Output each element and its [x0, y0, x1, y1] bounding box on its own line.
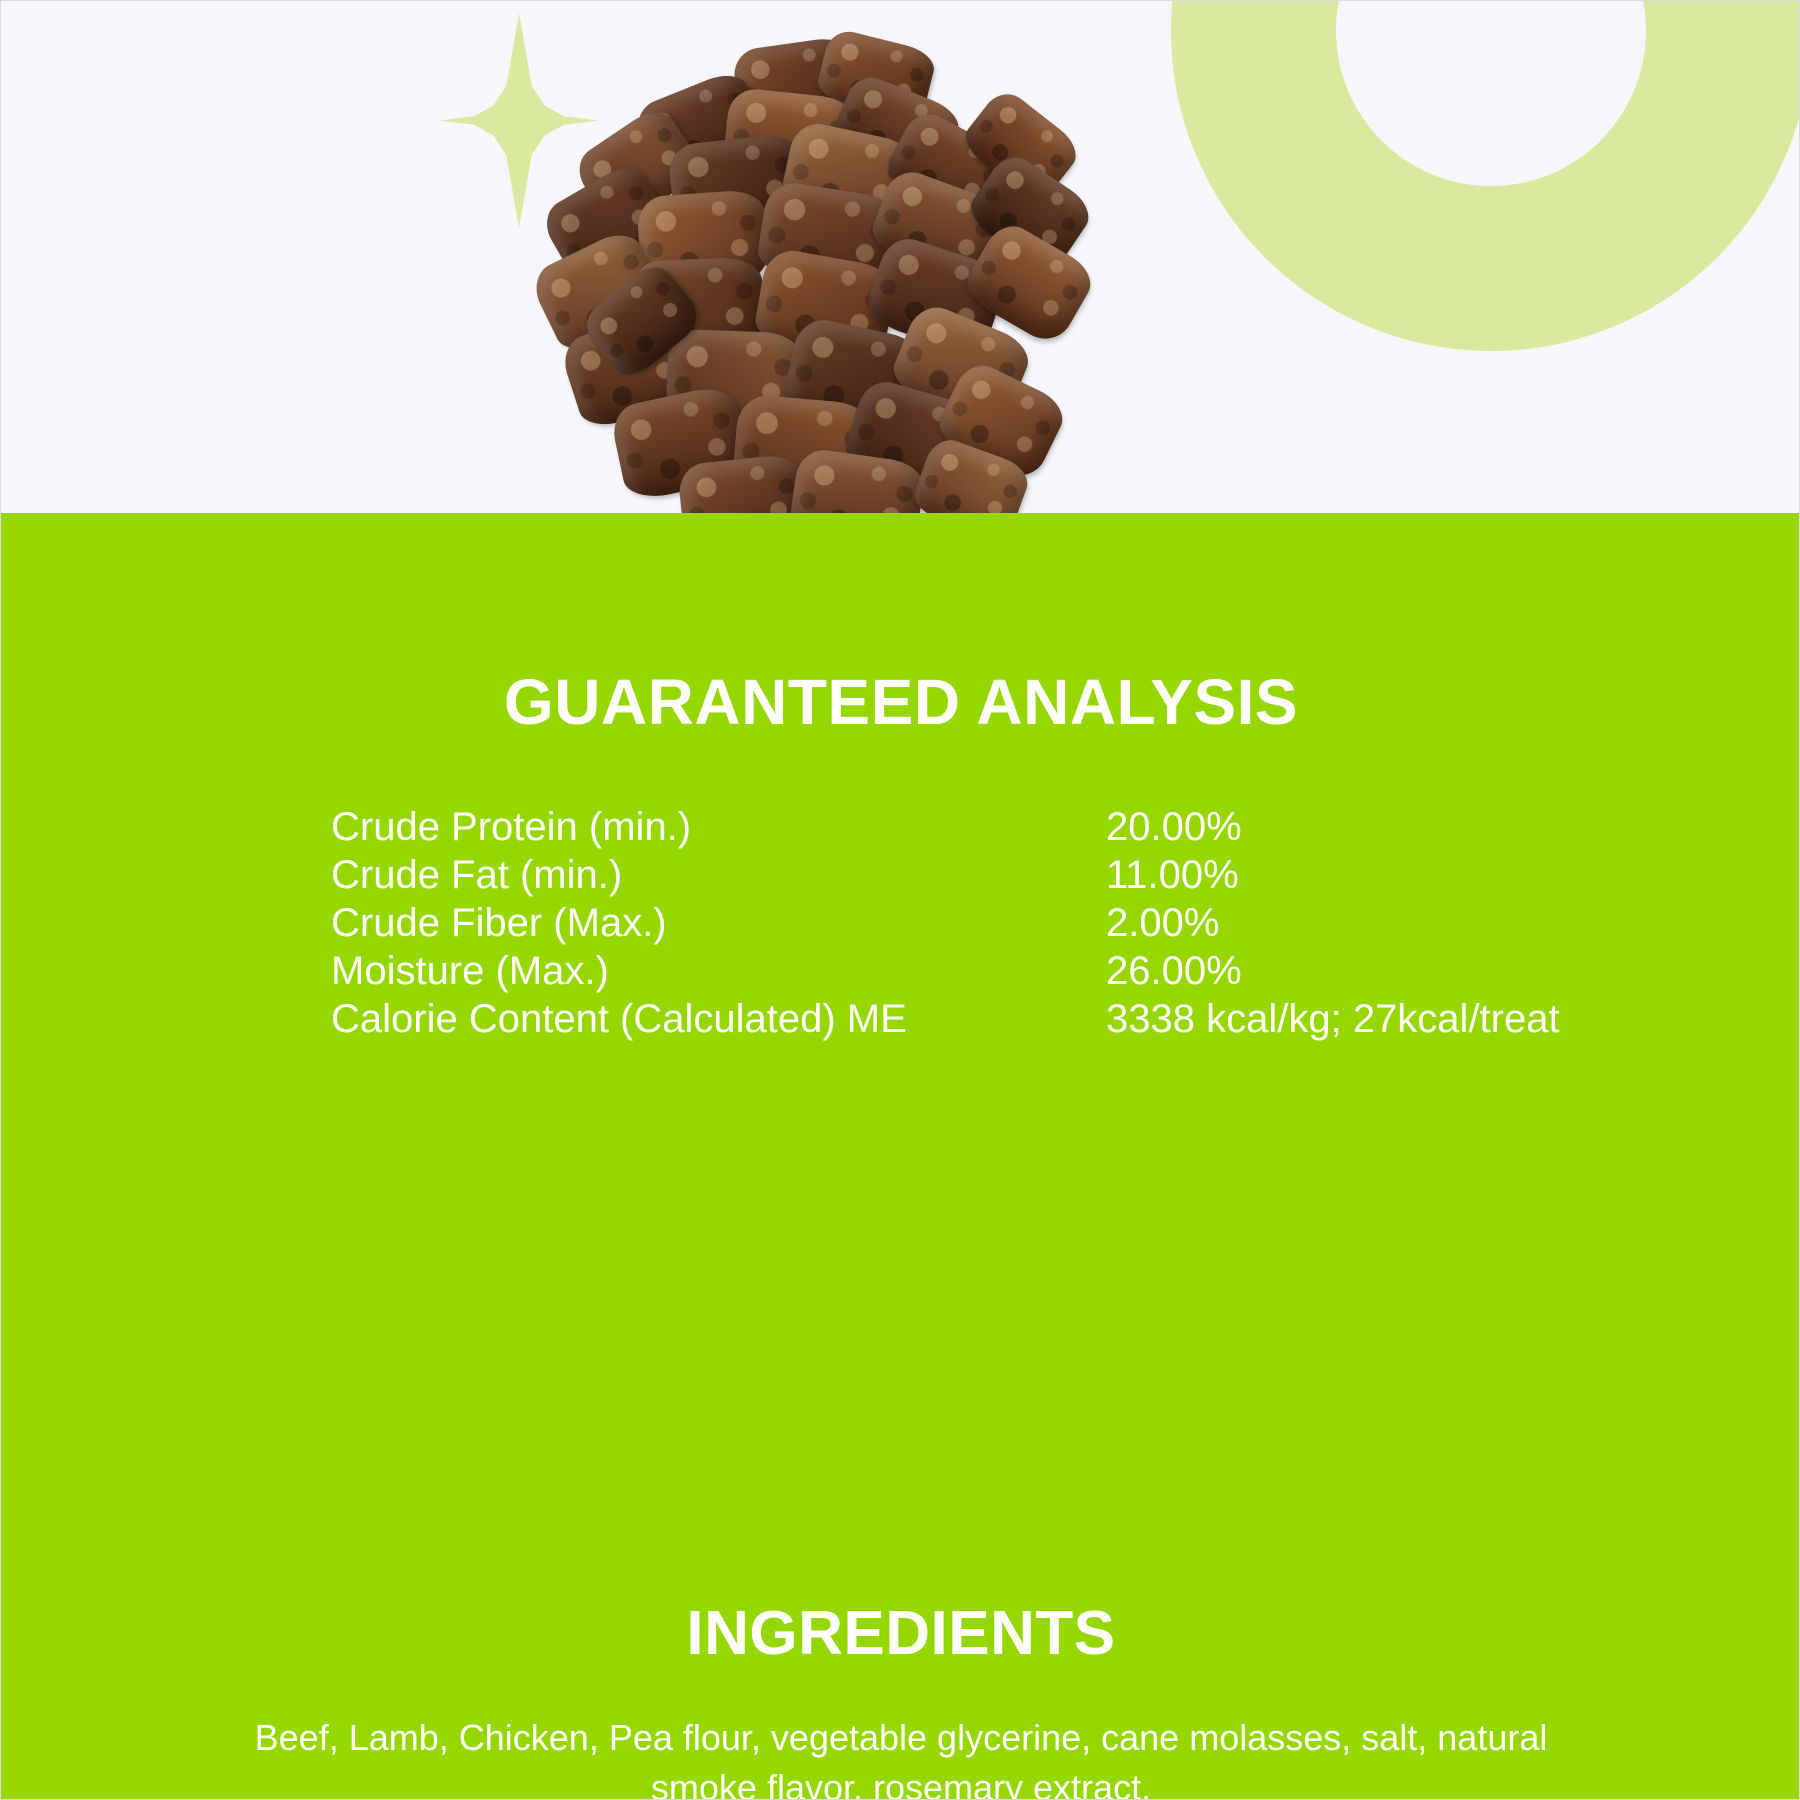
analysis-row-value: 2.00%	[1106, 899, 1631, 947]
info-panel: GUARANTEED ANALYSIS Crude Protein (min.)…	[1, 513, 1800, 1800]
analysis-row-value: 11.00%	[1106, 851, 1631, 899]
hero-panel	[1, 1, 1800, 513]
ingredients-body: Beef, Lamb, Chicken, Pea flour, vegetabl…	[211, 1713, 1591, 1800]
analysis-row-label: Crude Protein (min.)	[331, 803, 1106, 851]
analysis-row-value: 26.00%	[1106, 947, 1631, 995]
guaranteed-analysis-title: GUARANTEED ANALYSIS	[1, 670, 1800, 734]
analysis-row-label: Crude Fat (min.)	[331, 851, 1106, 899]
analysis-row: Crude Fat (min.)11.00%	[331, 851, 1631, 899]
analysis-row: Crude Fiber (Max.)2.00%	[331, 899, 1631, 947]
ring-arc-icon	[1171, 1, 1800, 351]
analysis-row: Calorie Content (Calculated) ME3338 kcal…	[331, 995, 1631, 1043]
analysis-row-value: 3338 kcal/kg; 27kcal/treat	[1106, 995, 1631, 1043]
product-treats-image	[521, 31, 1101, 513]
analysis-row-label: Calorie Content (Calculated) ME	[331, 995, 1106, 1043]
analysis-row-label: Moisture (Max.)	[331, 947, 1106, 995]
analysis-row-label: Crude Fiber (Max.)	[331, 899, 1106, 947]
product-info-panel: GUARANTEED ANALYSIS Crude Protein (min.)…	[0, 0, 1800, 1800]
analysis-row: Crude Protein (min.)20.00%	[331, 803, 1631, 851]
ingredients-title: INGREDIENTS	[1, 1603, 1800, 1665]
analysis-row-value: 20.00%	[1106, 803, 1631, 851]
guaranteed-analysis-table: Crude Protein (min.)20.00%Crude Fat (min…	[331, 803, 1631, 1043]
analysis-row: Moisture (Max.)26.00%	[331, 947, 1631, 995]
